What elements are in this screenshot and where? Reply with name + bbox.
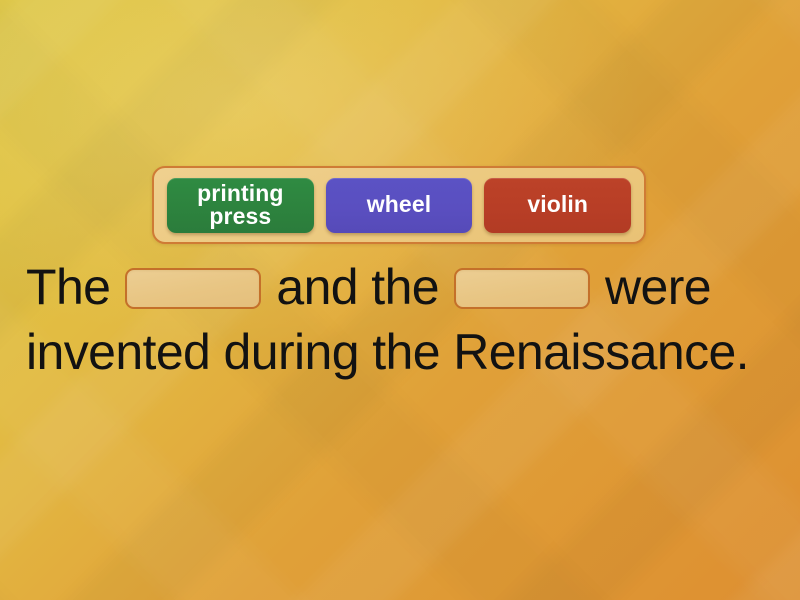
sentence-word-and-the: and the <box>276 256 439 319</box>
sentence-word-the-first: The <box>26 256 110 319</box>
word-tile-wheel[interactable]: wheel <box>326 178 473 233</box>
sentence-word-were: were <box>605 256 711 319</box>
sentence-prompt: The and the were invented during the Ren… <box>0 256 800 384</box>
blank-drop-zone-2[interactable] <box>454 268 590 309</box>
sentence-line-1: The and the were <box>26 256 774 319</box>
blank-drop-zone-1[interactable] <box>125 268 261 309</box>
activity-stage: printing press wheel violin The and the … <box>0 0 800 600</box>
word-tile-printing-press[interactable]: printing press <box>167 178 314 233</box>
sentence-line-2: invented during the Renaissance. <box>26 321 774 384</box>
word-bank: printing press wheel violin <box>152 166 646 244</box>
sentence-line-2-text: invented during the Renaissance. <box>26 321 749 384</box>
word-tile-violin[interactable]: violin <box>484 178 631 233</box>
